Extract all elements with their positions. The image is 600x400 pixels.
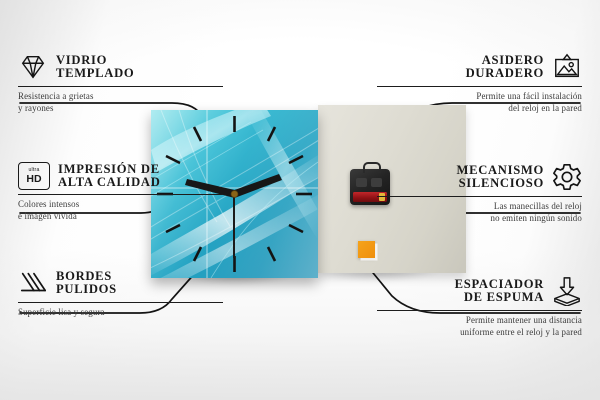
feature-title-line1: MECANISMO (457, 164, 544, 177)
feature-sub-line1: Colores intensos (18, 199, 223, 211)
ultra-hd-icon: ultra HD (18, 162, 50, 190)
hanging-frame-icon (552, 52, 582, 82)
feature-divider (377, 196, 582, 197)
mechanism-knob-left (356, 178, 367, 187)
tick-4 (289, 225, 303, 232)
feature-divider (377, 310, 582, 311)
tick-8 (166, 225, 180, 232)
feature-title-line1: ESPACIADOR (455, 278, 544, 291)
feature-titles: IMPRESIÓN DE ALTA CALIDAD (58, 163, 161, 190)
feature-bordes-pulidos: BORDES PULIDOS Superficie lisa y segura (18, 268, 223, 319)
tick-2 (289, 156, 303, 163)
feature-espaciador-de-espuma: ESPACIADOR DE ESPUMA Permite mantener un… (377, 276, 582, 339)
diamond-icon (18, 52, 48, 82)
feature-impresion-alta-calidad: ultra HD IMPRESIÓN DE ALTA CALIDAD Color… (18, 162, 223, 223)
tick-1 (268, 127, 275, 141)
second-hand (233, 194, 235, 258)
feature-sub-line1: Resistencia a grietas (18, 91, 223, 103)
hour-hand (235, 174, 283, 198)
feature-titles: BORDES PULIDOS (56, 270, 117, 297)
feature-header: MECANISMO SILENCIOSO (377, 162, 582, 192)
tick-7 (194, 247, 201, 261)
feature-sub-line1: Permite una fácil instalación (377, 91, 582, 103)
feature-titles: ESPACIADOR DE ESPUMA (455, 278, 544, 305)
foam-spacer (358, 241, 375, 258)
feature-divider (18, 86, 223, 87)
feature-divider (18, 194, 223, 195)
spacer-arrow-icon (552, 276, 582, 306)
feature-titles: MECANISMO SILENCIOSO (457, 164, 544, 191)
infographic-canvas: VIDRIO TEMPLADO Resistencia a grietas y … (0, 0, 600, 400)
feature-sub-line1: Permite mantener una distancia (377, 315, 582, 327)
feature-mecanismo-silencioso: MECANISMO SILENCIOSO Las manecillas del … (377, 162, 582, 225)
polished-edges-icon (18, 268, 48, 298)
feature-title-line2: TEMPLADO (56, 67, 134, 80)
feature-sub-line2: e imagen vívida (18, 211, 223, 223)
feature-sub-line2: del reloj en la pared (377, 103, 582, 115)
gear-icon (552, 162, 582, 192)
feature-sub-line1: Las manecillas del reloj (377, 201, 582, 213)
feature-titles: ASIDERO DURADERO (466, 54, 544, 81)
hands-pin (231, 191, 238, 198)
feature-title-line2: ALTA CALIDAD (58, 176, 161, 189)
feature-titles: VIDRIO TEMPLADO (56, 54, 134, 81)
ultra-hd-icon-main: HD (26, 174, 41, 185)
feature-title-line2: DURADERO (466, 67, 544, 80)
feature-title-line2: DE ESPUMA (455, 291, 544, 304)
feature-divider (377, 86, 582, 87)
feature-asidero-duradero: ASIDERO DURADERO Permite una fácil insta… (377, 52, 582, 115)
feature-divider (18, 302, 223, 303)
feature-title-line1: VIDRIO (56, 54, 134, 67)
tick-5 (268, 247, 275, 261)
feature-header: VIDRIO TEMPLADO (18, 52, 223, 82)
feature-title-line1: ASIDERO (466, 54, 544, 67)
feature-sub-line2: no emiten ningún sonido (377, 213, 582, 225)
feature-vidrio-templado: VIDRIO TEMPLADO Resistencia a grietas y … (18, 52, 223, 115)
feature-sub-line1: Superficie lisa y segura (18, 307, 223, 319)
feature-sub-line2: uniforme entre el reloj y la pared (377, 327, 582, 339)
feature-header: ASIDERO DURADERO (377, 52, 582, 82)
feature-title-line1: IMPRESIÓN DE (58, 163, 161, 176)
feature-header: ultra HD IMPRESIÓN DE ALTA CALIDAD (18, 162, 223, 190)
feature-header: BORDES PULIDOS (18, 268, 223, 298)
feature-title-line2: PULIDOS (56, 283, 117, 296)
feature-header: ESPACIADOR DE ESPUMA (377, 276, 582, 306)
feature-title-line2: SILENCIOSO (457, 177, 544, 190)
feature-title-line1: BORDES (56, 270, 117, 283)
feature-sub-line2: y rayones (18, 103, 223, 115)
tick-11 (194, 127, 201, 141)
